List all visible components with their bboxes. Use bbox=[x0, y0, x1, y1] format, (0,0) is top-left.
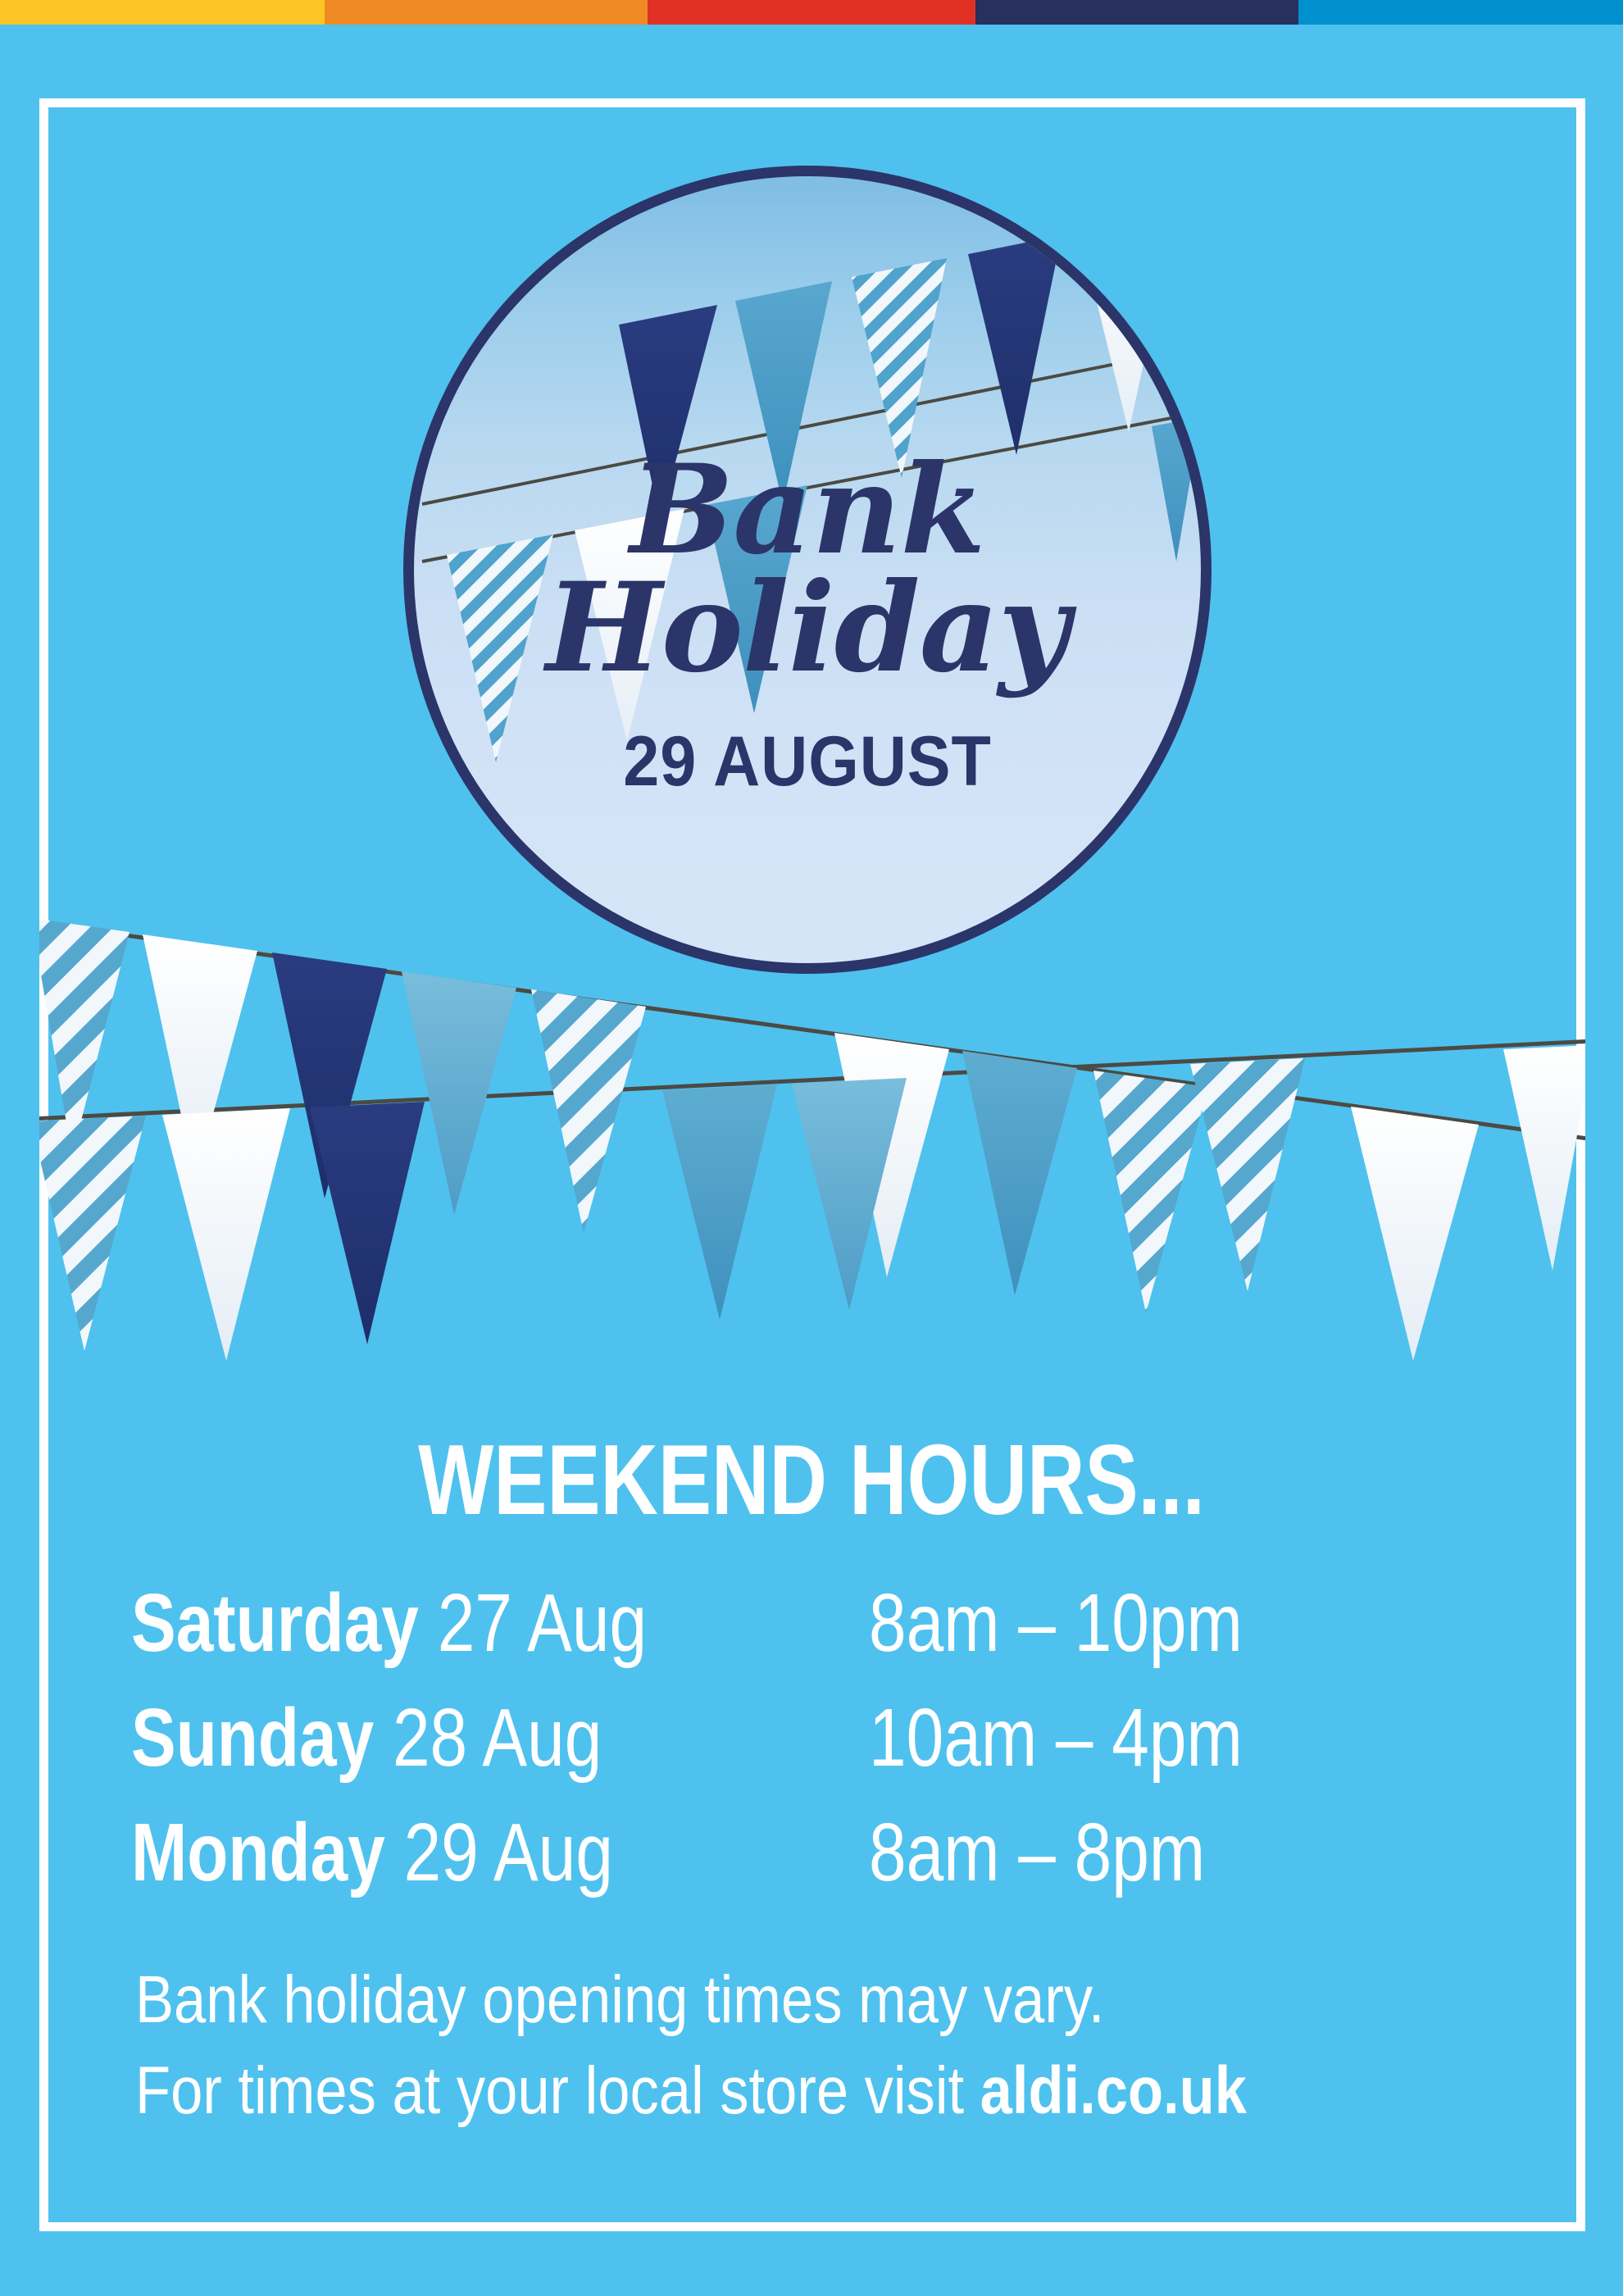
hours-day-date: 28 Aug bbox=[393, 1692, 602, 1784]
badge-script-text: Bank Holiday bbox=[414, 451, 1201, 687]
hours-day-name: Sunday bbox=[131, 1692, 393, 1784]
brand-color-bar bbox=[0, 0, 1623, 25]
hours-day-name: Monday bbox=[131, 1807, 404, 1898]
footer-note: Bank holiday opening times may vary. For… bbox=[135, 1955, 1488, 2136]
brand-stripe-yellow bbox=[0, 0, 325, 25]
hours-time-cell: 8am – 10pm bbox=[869, 1582, 1243, 1664]
table-row: Sunday 28 Aug 10am – 4pm bbox=[131, 1697, 1459, 1812]
footer-line-2: For times at your local store visit aldi… bbox=[135, 2046, 1298, 2137]
hours-day-date: 29 Aug bbox=[404, 1807, 613, 1898]
bank-holiday-badge: Bank Holiday 29 AUGUST bbox=[403, 166, 1212, 974]
table-row: Saturday 27 Aug 8am – 10pm bbox=[131, 1582, 1459, 1697]
hours-day-cell: Saturday 27 Aug bbox=[131, 1582, 736, 1664]
footer-line-1: Bank holiday opening times may vary. bbox=[135, 1955, 1298, 2046]
aldi-website-link[interactable]: aldi.co.uk bbox=[980, 2053, 1247, 2128]
brand-stripe-blue bbox=[1298, 0, 1623, 25]
hours-time-cell: 8am – 8pm bbox=[869, 1812, 1205, 1894]
page-title: WEEKEND HOURS... bbox=[162, 1422, 1461, 1537]
hours-day-date: 27 Aug bbox=[438, 1577, 647, 1669]
brand-stripe-red bbox=[648, 0, 975, 25]
hours-day-cell: Monday 29 Aug bbox=[131, 1812, 736, 1894]
table-row: Monday 29 Aug 8am – 8pm bbox=[131, 1812, 1459, 1926]
brand-stripe-navy bbox=[975, 0, 1298, 25]
badge-script-line-2: Holiday bbox=[414, 569, 1201, 687]
badge-date-text: 29 AUGUST bbox=[445, 721, 1169, 802]
opening-hours-table: Saturday 27 Aug 8am – 10pm Sunday 28 Aug… bbox=[131, 1582, 1459, 1926]
hours-day-name: Saturday bbox=[131, 1577, 438, 1669]
badge-script-line-1: Bank bbox=[414, 451, 1201, 569]
hours-time-cell: 10am – 4pm bbox=[869, 1697, 1243, 1779]
brand-stripe-orange bbox=[325, 0, 648, 25]
hours-day-cell: Sunday 28 Aug bbox=[131, 1697, 736, 1779]
footer-line-2-prefix: For times at your local store visit bbox=[135, 2053, 980, 2128]
